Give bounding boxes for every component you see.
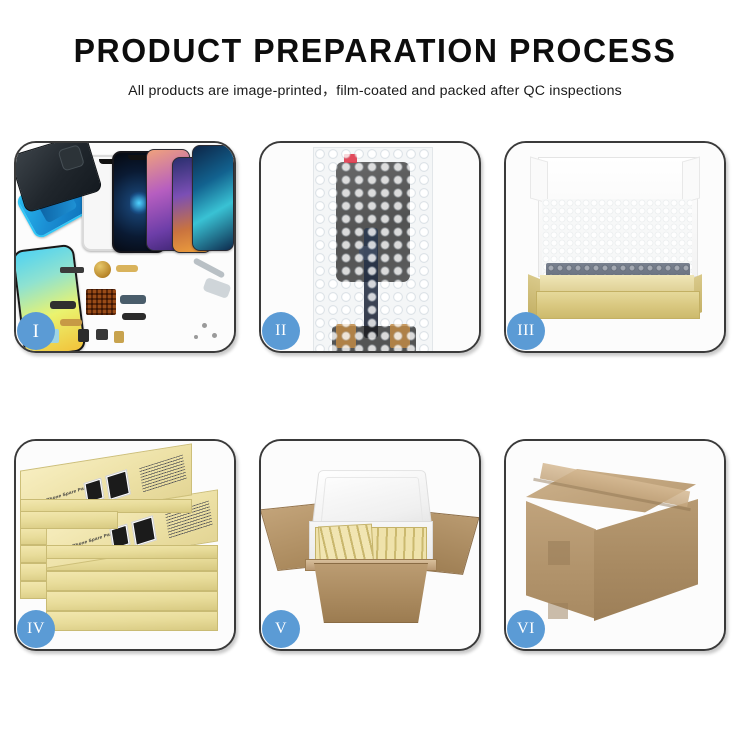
labelled-box-edge: [46, 545, 218, 559]
screw-icon: [202, 323, 207, 328]
page-title: PRODUCT PREPARATION PROCESS: [11, 34, 739, 69]
step-badge-6: VI: [507, 610, 545, 648]
header: PRODUCT PREPARATION PROCESS All products…: [0, 0, 750, 100]
box-side-flap-icon: [530, 156, 548, 203]
wrapped-flex-cable-icon: [364, 228, 378, 338]
flex-cable-part-icon: [120, 295, 146, 304]
phone-cyan-display-icon: [192, 145, 234, 251]
box-product-thumbnail: [131, 515, 157, 547]
camera-module-part-icon: [78, 329, 89, 342]
step-panel-2[interactable]: II: [259, 141, 481, 353]
step-badge-4: IV: [17, 610, 55, 648]
tweezers-icon: [193, 257, 226, 278]
logic-board-part-icon: [86, 289, 116, 315]
product-preparation-infographic: PRODUCT PREPARATION PROCESS All products…: [0, 0, 750, 750]
step-panel-3[interactable]: III: [504, 141, 726, 353]
stacked-box: [46, 611, 218, 631]
screw-icon: [194, 335, 198, 339]
carton-right-face-icon: [594, 499, 698, 621]
wrapped-ic-chip-icon: [359, 246, 377, 260]
taptic-engine-part-icon: [94, 261, 111, 278]
page-subtitle: All products are image-printed，film-coat…: [0, 80, 750, 100]
steps-grid: I II: [14, 141, 736, 651]
stacked-box: [20, 511, 118, 529]
screwdriver-icon: [202, 277, 231, 299]
connector-part-icon: [114, 331, 124, 343]
gold-tray-front-icon: [536, 291, 700, 319]
step-badge-2: II: [262, 312, 300, 350]
speaker-part-icon: [96, 329, 108, 340]
step-panel-4[interactable]: Mobile Phone Spare Parts Mobile Phone Sp…: [14, 439, 236, 651]
stacked-box: [46, 591, 218, 611]
carton-tab-icon: [548, 541, 570, 565]
wrapped-connector-icon: [336, 324, 356, 348]
wrapped-connector-icon: [390, 324, 410, 348]
box-product-thumbnail: [105, 469, 131, 501]
carton-front-panel-icon: [309, 563, 433, 623]
screw-icon: [212, 333, 217, 338]
step-badge-1: I: [17, 312, 55, 350]
step-panel-1[interactable]: I: [14, 141, 236, 353]
flex-cable-part-icon: [60, 319, 82, 326]
step-panel-6[interactable]: VI: [504, 439, 726, 651]
box-spec-lines: [139, 455, 187, 494]
flex-cable-part-icon: [50, 301, 76, 309]
flex-cable-part-icon: [122, 313, 146, 320]
bubble-wrap-bag-icon: [313, 147, 433, 351]
flex-cable-part-icon: [116, 265, 138, 272]
step-badge-5: V: [262, 610, 300, 648]
battery-part-icon: [60, 267, 84, 273]
stacked-box: [46, 571, 218, 591]
box-side-flap-icon: [682, 156, 700, 203]
carton-tab-icon: [548, 603, 568, 619]
red-qc-label-icon: [344, 154, 357, 163]
step-panel-5[interactable]: V: [259, 439, 481, 651]
step-badge-3: III: [507, 312, 545, 350]
